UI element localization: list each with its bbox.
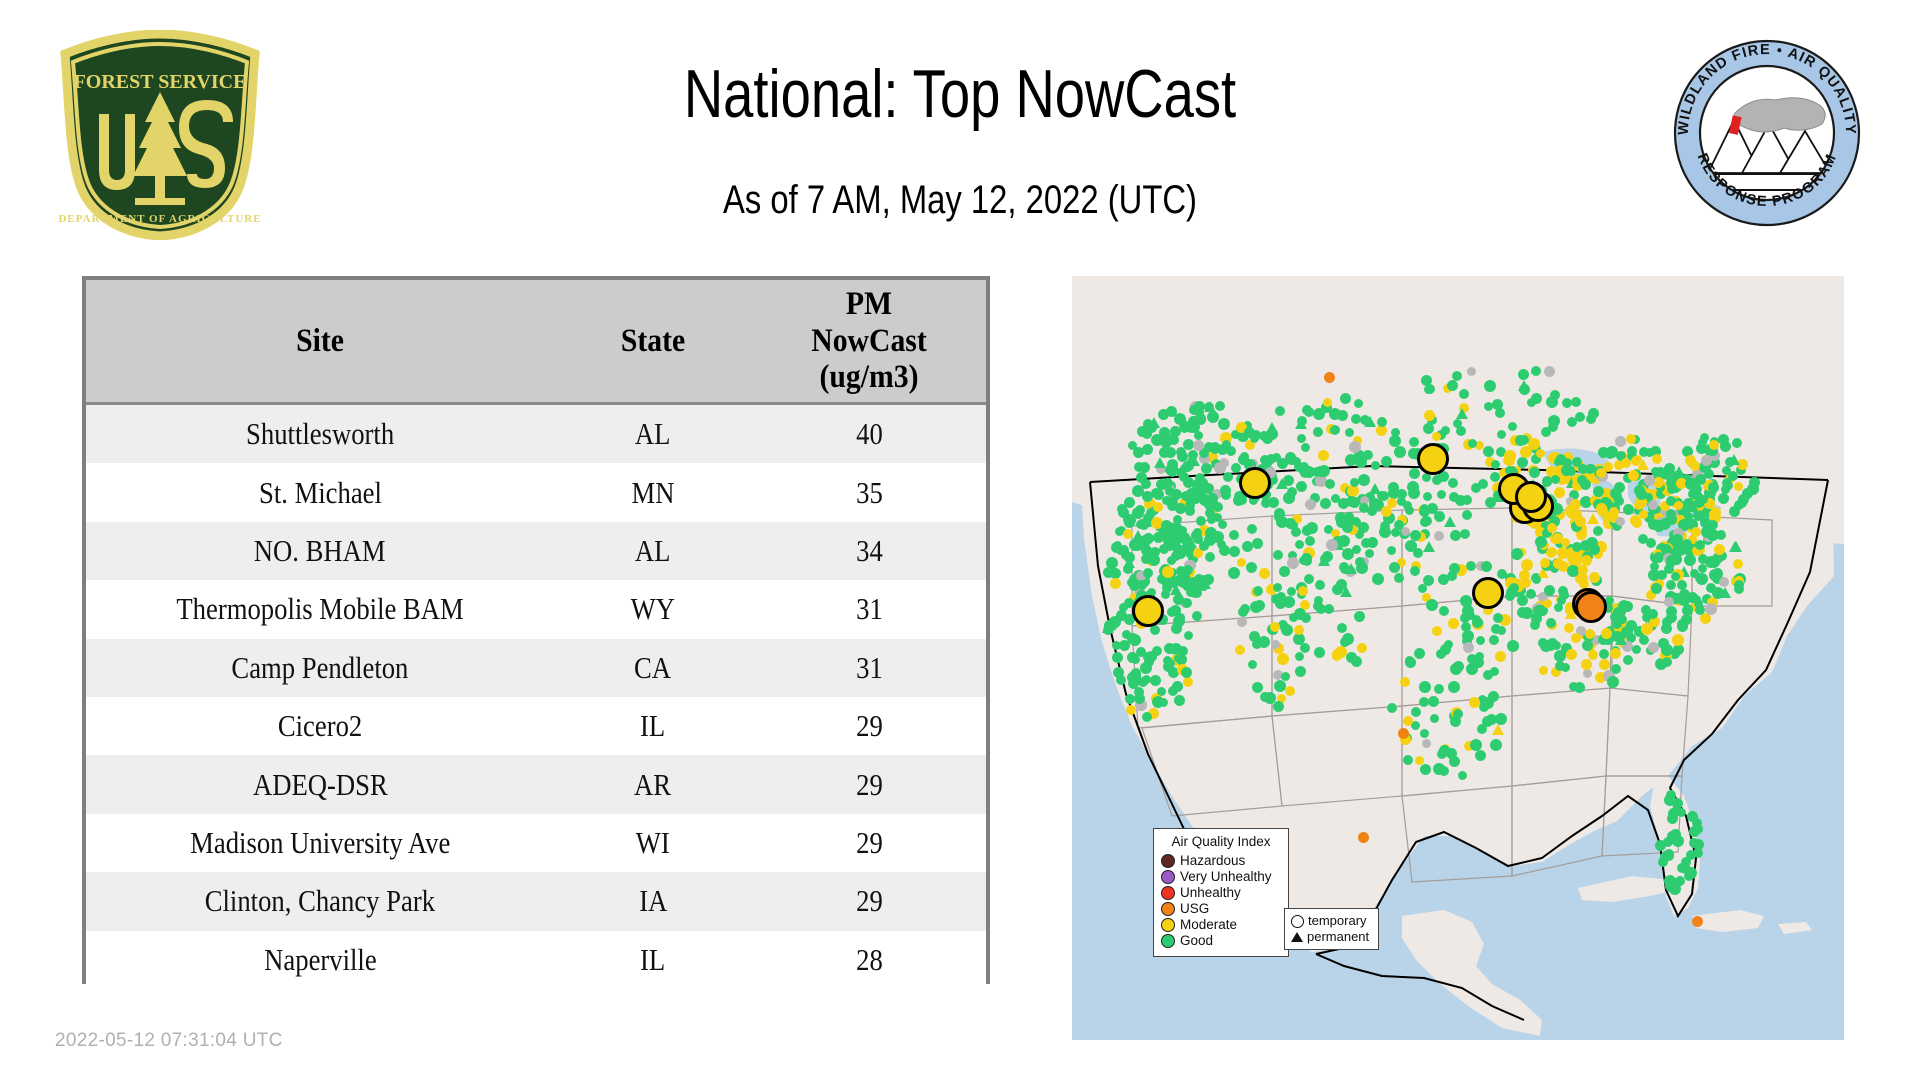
map-monitor-dot — [1646, 538, 1656, 548]
state-cell: AL — [554, 404, 752, 464]
map-monitor-dot — [1495, 651, 1506, 662]
map-monitor-dot — [1213, 513, 1222, 522]
map-monitor-dot — [1588, 650, 1598, 660]
map-monitor-dot — [1566, 649, 1577, 660]
map-monitor-dot — [1361, 538, 1371, 548]
map-monitor-dot — [1497, 430, 1506, 439]
map-monitor-dot — [1709, 509, 1720, 520]
map-monitor-dot — [1139, 462, 1150, 473]
map-monitor-dot — [1599, 649, 1609, 659]
map-monitor-dot — [1452, 371, 1462, 381]
state-cell: CA — [554, 639, 752, 697]
map-top-site-marker[interactable] — [1417, 443, 1449, 475]
legend-label-permanent: permanent — [1307, 929, 1369, 945]
table-row[interactable]: ShuttlesworthAL40 — [86, 404, 986, 464]
map-monitor-dot — [1172, 577, 1181, 586]
map-top-site-marker[interactable] — [1132, 595, 1164, 627]
map-monitor-dot — [1585, 629, 1595, 639]
map-monitor-dot — [1301, 553, 1312, 564]
map-monitor-dot — [1571, 633, 1581, 643]
map-monitor-dot — [1168, 468, 1177, 477]
map-monitor-dot — [1599, 659, 1610, 670]
map-monitor-dot — [1618, 615, 1627, 624]
map-monitor-triangle — [1615, 634, 1627, 645]
map-monitor-dot — [1714, 544, 1725, 555]
map-monitor-dot — [1150, 547, 1160, 557]
map-monitor-dot — [1300, 643, 1310, 653]
map-monitor-dot — [1687, 811, 1698, 822]
map-monitor-dot — [1135, 505, 1145, 515]
map-monitor-dot — [1540, 558, 1550, 568]
map-monitor-dot — [1712, 568, 1723, 579]
map-monitor-dot — [1231, 463, 1241, 473]
map-monitor-dot — [1434, 531, 1444, 541]
map-monitor-dot — [1143, 568, 1153, 578]
map-monitor-dot — [1253, 586, 1263, 596]
map-monitor-dot — [1354, 611, 1365, 622]
map-monitor-dot — [1677, 619, 1688, 630]
map-monitor-triangle — [1492, 724, 1504, 735]
map-monitor-dot — [1581, 659, 1592, 670]
map-monitor-dot — [1112, 641, 1121, 650]
map-monitor-dot — [1182, 580, 1193, 591]
table-row[interactable]: ADEQ-DSRAR29 — [86, 755, 986, 813]
pm-nowcast-cell: 28 — [752, 931, 986, 989]
site-cell-label: NO. BHAM — [254, 533, 386, 569]
state-cell-label: IA — [639, 883, 667, 919]
map-monitor-dot — [1709, 440, 1719, 450]
map-monitor-dot — [1140, 662, 1152, 674]
map-monitor-dot — [1691, 527, 1701, 537]
map-monitor-dot — [1611, 664, 1621, 674]
map-monitor-dot — [1350, 478, 1359, 487]
map-monitor-dot — [1335, 512, 1347, 524]
national-aqi-map[interactable]: Air Quality Index HazardousVery Unhealth… — [1072, 276, 1844, 1040]
map-monitor-dot — [1544, 366, 1555, 377]
map-monitor-dot — [1578, 464, 1588, 474]
map-monitor-dot — [1492, 399, 1503, 410]
map-monitor-dot — [1295, 652, 1304, 661]
map-monitor-dot — [1520, 446, 1532, 458]
map-monitor-dot — [1192, 611, 1202, 621]
map-monitor-dot — [1448, 618, 1459, 629]
map-monitor-dot — [1610, 648, 1621, 659]
state-cell-label: AR — [634, 767, 671, 803]
aqi-swatch-icon — [1161, 902, 1175, 916]
map-monitor-dot — [1628, 470, 1639, 481]
map-monitor-dot — [1270, 622, 1280, 632]
page-subtitle: As of 7 AM, May 12, 2022 (UTC) — [173, 178, 1747, 223]
map-monitor-dot — [1123, 514, 1134, 525]
map-monitor-dot — [1449, 563, 1460, 574]
map-monitor-dot — [1460, 613, 1470, 623]
pm-nowcast-cell-label: 28 — [856, 942, 883, 978]
table-row[interactable]: Cicero2IL29 — [86, 697, 986, 755]
state-cell-label: MN — [632, 475, 675, 511]
map-monitor-dot — [1428, 696, 1439, 707]
map-monitor-dot — [1346, 496, 1357, 507]
map-monitor-dot — [1194, 431, 1203, 440]
map-monitor-dot — [1235, 645, 1245, 655]
pm-nowcast-cell-label: 29 — [856, 883, 883, 919]
map-monitor-dot — [1468, 439, 1477, 448]
map-monitor-dot — [1671, 554, 1682, 565]
legend-row-permanent: permanent — [1291, 929, 1372, 945]
map-monitor-dot — [1279, 566, 1290, 577]
map-monitor-dot — [1124, 497, 1135, 508]
site-cell: Clinton, Chancy Park — [86, 872, 554, 930]
state-cell-label: IL — [640, 708, 665, 744]
map-monitor-dot — [1329, 408, 1341, 420]
map-monitor-dot — [1194, 574, 1204, 584]
map-top-site-marker[interactable] — [1239, 467, 1271, 499]
aqi-swatch-icon — [1161, 870, 1175, 884]
map-monitor-dot — [1555, 661, 1565, 671]
table-row[interactable]: Clinton, Chancy ParkIA29 — [86, 872, 986, 930]
map-monitor-dot — [1419, 681, 1431, 693]
pm-nowcast-cell-label: 31 — [856, 591, 883, 627]
map-monitor-dot — [1652, 454, 1662, 464]
map-monitor-dot — [1420, 764, 1431, 775]
map-monitor-triangle — [1364, 416, 1376, 427]
map-monitor-dot — [1229, 546, 1240, 557]
map-monitor-dot — [1672, 634, 1684, 646]
legend-row-temporary: temporary — [1291, 913, 1372, 929]
map-monitor-dot — [1112, 652, 1123, 663]
map-monitor-dot — [1323, 398, 1332, 407]
map-monitor-dot — [1552, 641, 1561, 650]
map-monitor-dot — [1128, 441, 1137, 450]
map-monitor-dot — [1252, 682, 1263, 693]
pm-nowcast-cell: 34 — [752, 522, 986, 580]
aqi-legend-row: USG — [1161, 901, 1281, 917]
table-row[interactable]: NO. BHAMAL34 — [86, 522, 986, 580]
map-monitor-dot — [1337, 623, 1347, 633]
map-monitor-dot — [1623, 655, 1633, 665]
map-monitor-dot — [1426, 599, 1438, 611]
aqi-legend-row: Hazardous — [1161, 853, 1281, 869]
map-monitor-dot — [1298, 586, 1308, 596]
table-row[interactable]: St. MichaelMN35 — [86, 463, 986, 521]
map-monitor-dot — [1242, 541, 1253, 552]
map-monitor-dot — [1470, 739, 1482, 751]
site-cell: NO. BHAM — [86, 522, 554, 580]
map-monitor-triangle — [1102, 622, 1114, 633]
map-monitor-dot — [1547, 523, 1557, 533]
map-monitor-dot — [1179, 472, 1189, 482]
map-monitor-triangle — [1204, 401, 1216, 412]
map-monitor-dot — [1732, 438, 1742, 448]
column-header-pm-nowcast[interactable]: PM NowCast (ug/m3) — [752, 280, 986, 404]
map-monitor-dot — [1103, 567, 1114, 578]
site-cell-label: ADEQ-DSR — [253, 767, 388, 803]
map-monitor-dot — [1541, 427, 1551, 437]
map-monitor-dot — [1662, 657, 1672, 667]
map-monitor-dot — [1734, 580, 1744, 590]
map-monitor-dot — [1345, 428, 1354, 437]
aqi-legend-label: Very Unhealthy — [1180, 869, 1272, 885]
site-cell-label: Madison University Ave — [190, 825, 450, 861]
state-cell: IA — [554, 872, 752, 930]
column-header-state[interactable]: State — [554, 280, 752, 404]
map-monitor-dot — [1247, 524, 1257, 534]
map-monitor-dot — [1660, 518, 1671, 529]
map-top-site-marker[interactable] — [1575, 591, 1607, 623]
map-monitor-dot — [1182, 598, 1192, 608]
map-monitor-dot — [1184, 631, 1193, 640]
map-monitor-triangle — [1587, 513, 1599, 524]
map-monitor-dot — [1316, 604, 1326, 614]
map-monitor-dot — [1377, 417, 1387, 427]
map-monitor-dot — [1264, 692, 1276, 704]
map-monitor-dot — [1623, 504, 1634, 515]
map-monitor-dot — [1569, 682, 1578, 691]
map-monitor-dot — [1228, 567, 1240, 579]
map-monitor-dot — [1437, 490, 1446, 499]
map-monitor-dot — [1626, 434, 1636, 444]
map-monitor-dot — [1394, 573, 1404, 583]
map-monitor-dot — [1515, 435, 1526, 446]
map-monitor-dot — [1449, 492, 1459, 502]
map-monitor-dot — [1716, 530, 1726, 540]
map-monitor-dot — [1527, 398, 1536, 407]
state-cell: AR — [554, 755, 752, 813]
map-monitor-dot — [1419, 506, 1430, 517]
map-monitor-dot — [1205, 527, 1217, 539]
map-monitor-dot — [1407, 481, 1419, 493]
map-monitor-dot — [1564, 623, 1574, 633]
map-monitor-dot — [1338, 535, 1350, 547]
map-monitor-dot — [1553, 558, 1564, 569]
map-monitor-dot — [1581, 555, 1592, 566]
map-monitor-dot — [1129, 634, 1141, 646]
map-monitor-dot — [1172, 681, 1183, 692]
map-monitor-dot — [1609, 507, 1619, 517]
map-monitor-dot — [1462, 495, 1472, 505]
aqi-legend-row: Moderate — [1161, 917, 1281, 933]
table-row[interactable]: Madison University AveWI29 — [86, 814, 986, 872]
map-monitor-dot — [1484, 380, 1496, 392]
map-monitor-dot — [1548, 415, 1560, 427]
map-monitor-dot — [1352, 545, 1361, 554]
map-monitor-dot — [1689, 838, 1699, 848]
map-monitor-dot — [1449, 756, 1460, 767]
map-monitor-dot — [1285, 686, 1295, 696]
map-monitor-dot — [1249, 631, 1260, 642]
map-monitor-dot — [1159, 447, 1170, 458]
map-monitor-dot — [1546, 618, 1556, 628]
map-monitor-dot — [1603, 462, 1613, 472]
map-monitor-dot — [1287, 587, 1296, 596]
map-monitor-dot — [1349, 441, 1361, 453]
map-monitor-dot — [1217, 540, 1226, 549]
map-monitor-dot — [1123, 529, 1133, 539]
map-monitor-dot — [1161, 590, 1170, 599]
map-monitor-dot — [1301, 443, 1310, 452]
map-monitor-dot — [1153, 532, 1164, 543]
map-monitor-dot — [1305, 499, 1316, 510]
map-monitor-dot — [1531, 366, 1541, 376]
state-cell: WY — [554, 580, 752, 638]
map-monitor-dot — [1153, 502, 1163, 512]
map-monitor-dot — [1297, 434, 1306, 443]
map-monitor-dot — [1121, 550, 1131, 560]
map-monitor-dot — [1159, 427, 1170, 438]
map-monitor-dot — [1251, 430, 1261, 440]
map-monitor-dot — [1377, 491, 1386, 500]
map-monitor-dot — [1351, 656, 1362, 667]
monitor-type-legend: temporary permanent — [1284, 908, 1379, 950]
map-monitor-dot — [1295, 540, 1304, 549]
site-cell: Thermopolis Mobile BAM — [86, 580, 554, 638]
state-cell-label: WI — [636, 825, 670, 861]
map-monitor-dot — [1722, 466, 1731, 475]
map-monitor-dot — [1467, 367, 1476, 376]
map-monitor-dot — [1666, 580, 1676, 590]
map-monitor-dot — [1410, 566, 1420, 576]
map-monitor-dot — [1672, 534, 1683, 545]
map-monitor-dot — [1671, 572, 1680, 581]
map-monitor-dot — [1700, 433, 1709, 442]
map-monitor-dot — [1277, 653, 1289, 665]
map-monitor-dot — [1674, 501, 1683, 510]
map-monitor-dot — [1171, 522, 1182, 533]
map-monitor-dot — [1354, 399, 1363, 408]
map-monitor-dot — [1320, 498, 1331, 509]
map-monitor-dot — [1661, 644, 1673, 656]
map-monitor-dot — [1507, 640, 1519, 652]
state-cell-label: AL — [635, 533, 671, 569]
map-monitor-dot — [1391, 428, 1400, 437]
map-monitor-dot — [1335, 646, 1347, 658]
map-monitor-dot — [1701, 455, 1712, 466]
map-monitor-dot — [1561, 465, 1572, 476]
map-monitor-dot — [1571, 397, 1581, 407]
map-top-site-marker[interactable] — [1515, 481, 1547, 513]
map-monitor-dot — [1405, 656, 1414, 665]
table-row[interactable]: Camp PendletonCA31 — [86, 639, 986, 697]
map-monitor-dot — [1542, 476, 1552, 486]
state-cell-label: AL — [635, 416, 671, 452]
map-monitor-dot — [1394, 446, 1406, 458]
map-monitor-dot — [1143, 652, 1153, 662]
map-monitor-dot — [1459, 389, 1469, 399]
map-monitor-dot — [1238, 607, 1248, 617]
map-monitor-dot — [1747, 483, 1759, 495]
map-monitor-dot — [1252, 601, 1261, 610]
pm-nowcast-cell-label: 29 — [856, 767, 883, 803]
map-monitor-dot — [1387, 703, 1397, 713]
map-monitor-dot — [1606, 446, 1618, 458]
pm-nowcast-cell: 29 — [752, 872, 986, 930]
map-monitor-dot — [1351, 414, 1361, 424]
table-body: ShuttlesworthAL40St. MichaelMN35NO. BHAM… — [86, 404, 986, 989]
map-monitor-dot — [1205, 552, 1215, 562]
map-monitor-dot — [1322, 551, 1333, 562]
map-monitor-dot — [1403, 716, 1413, 726]
map-monitor-dot — [1580, 479, 1591, 490]
map-monitor-dot — [1142, 444, 1153, 455]
map-monitor-dot — [1161, 520, 1172, 531]
map-monitor-dot — [1218, 418, 1230, 430]
map-monitor-dot — [1521, 559, 1533, 571]
map-monitor-triangle — [1266, 422, 1278, 433]
map-monitor-dot — [1505, 591, 1515, 601]
map-monitor-dot — [1432, 475, 1442, 485]
map-monitor-dot — [1110, 578, 1121, 589]
map-monitor-dot — [1490, 667, 1499, 676]
map-monitor-dot — [1199, 541, 1209, 551]
map-monitor-dot — [1508, 422, 1517, 431]
map-monitor-dot — [1489, 635, 1499, 645]
map-monitor-dot — [1325, 479, 1335, 489]
map-monitor-dot — [1511, 548, 1523, 560]
map-top-site-marker[interactable] — [1472, 577, 1504, 609]
aqi-legend-row: Unhealthy — [1161, 885, 1281, 901]
map-monitor-dot — [1632, 645, 1641, 654]
map-monitor-dot — [1689, 826, 1700, 837]
map-monitor-dot — [1226, 446, 1236, 456]
aqi-swatch-icon — [1161, 854, 1175, 868]
map-monitor-dot — [1171, 623, 1182, 634]
map-monitor-dot — [1167, 607, 1177, 617]
map-monitor-dot — [1359, 503, 1369, 513]
table-row[interactable]: Thermopolis Mobile BAMWY31 — [86, 580, 986, 638]
map-monitor-dot — [1283, 492, 1295, 504]
map-monitor-dot — [1601, 628, 1612, 639]
map-monitor-triangle — [1188, 455, 1200, 466]
column-header-site[interactable]: Site — [86, 280, 554, 404]
map-monitor-dot — [1692, 916, 1703, 927]
map-monitor-dot — [1141, 554, 1151, 564]
map-monitor-dot — [1271, 640, 1280, 649]
map-monitor-dot — [1173, 547, 1182, 556]
map-monitor-dot — [1712, 587, 1724, 599]
pm-nowcast-cell-label: 29 — [856, 708, 883, 744]
map-monitor-dot — [1181, 491, 1191, 501]
map-monitor-dot — [1371, 461, 1380, 470]
map-monitor-dot — [1529, 467, 1540, 478]
map-monitor-dot — [1708, 520, 1718, 530]
map-monitor-dot — [1430, 714, 1439, 723]
pm-nowcast-cell: 40 — [752, 404, 986, 464]
map-monitor-dot — [1315, 580, 1325, 590]
table-row[interactable]: NapervilleIL28 — [86, 931, 986, 989]
map-monitor-dot — [1129, 539, 1141, 551]
column-header-pm-line1: PM — [764, 286, 975, 323]
map-monitor-dot — [1557, 596, 1566, 605]
map-monitor-dot — [1176, 447, 1186, 457]
map-monitor-dot — [1682, 539, 1692, 549]
map-monitor-dot — [1261, 498, 1271, 508]
map-monitor-dot — [1330, 425, 1340, 435]
map-monitor-dot — [1453, 419, 1462, 428]
map-monitor-dot — [1201, 463, 1212, 474]
pm-nowcast-cell: 29 — [752, 697, 986, 755]
map-monitor-dot — [1546, 396, 1558, 408]
map-monitor-dot — [1389, 562, 1400, 573]
map-monitor-dot — [1165, 487, 1174, 496]
map-monitor-dot — [1248, 660, 1257, 669]
map-monitor-dot — [1666, 612, 1677, 623]
map-monitor-dot — [1460, 529, 1470, 539]
map-monitor-dot — [1318, 450, 1329, 461]
map-monitor-dot — [1381, 506, 1392, 517]
map-monitor-dot — [1139, 520, 1149, 530]
map-monitor-dot — [1593, 486, 1604, 497]
map-monitor-dot — [1458, 771, 1467, 780]
map-monitor-triangle — [1276, 478, 1288, 489]
